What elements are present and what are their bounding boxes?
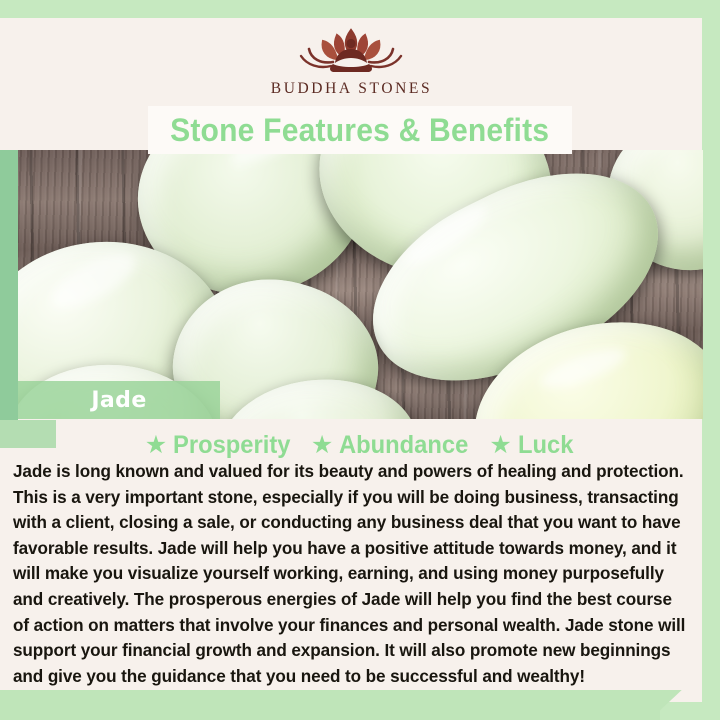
keyword-luck: ★ Luck [489,431,576,460]
brand-logo: BUDDHA STONES [271,24,432,98]
star-icon: ★ [489,433,511,458]
stone-name-badge: Jade [18,381,220,419]
star-icon: ★ [145,433,167,458]
keyword-abundance: ★ Abundance [311,431,476,460]
stone-photo [18,150,703,419]
keyword-label: Prosperity [173,431,290,460]
frame-left-strip [0,150,18,420]
frame-top-strip [0,0,720,18]
keyword-label: Luck [518,431,573,460]
frame-right-strip [702,0,720,720]
page-title: Stone Features & Benefits [170,112,549,149]
stone-name-label: Jade [91,388,146,413]
keyword-prosperity: ★ Prosperity [145,431,297,460]
infographic-page: BUDDHA STONES Jade Stone Features & Bene… [0,0,720,720]
keyword-row: ★ Prosperity ★ Abundance ★ Luck [18,428,703,462]
frame-bottom-chamfer [652,690,684,720]
description-paragraph: Jade is long known and valued for its be… [13,459,687,689]
section-title-band: Stone Features & Benefits [148,106,572,154]
frame-bottom-band [0,690,660,720]
star-icon: ★ [311,433,333,458]
brand-header: BUDDHA STONES [0,18,703,104]
brand-name: BUDDHA STONES [271,80,432,98]
lotus-meditating-figure-icon [285,24,417,78]
keyword-label: Abundance [339,431,468,460]
